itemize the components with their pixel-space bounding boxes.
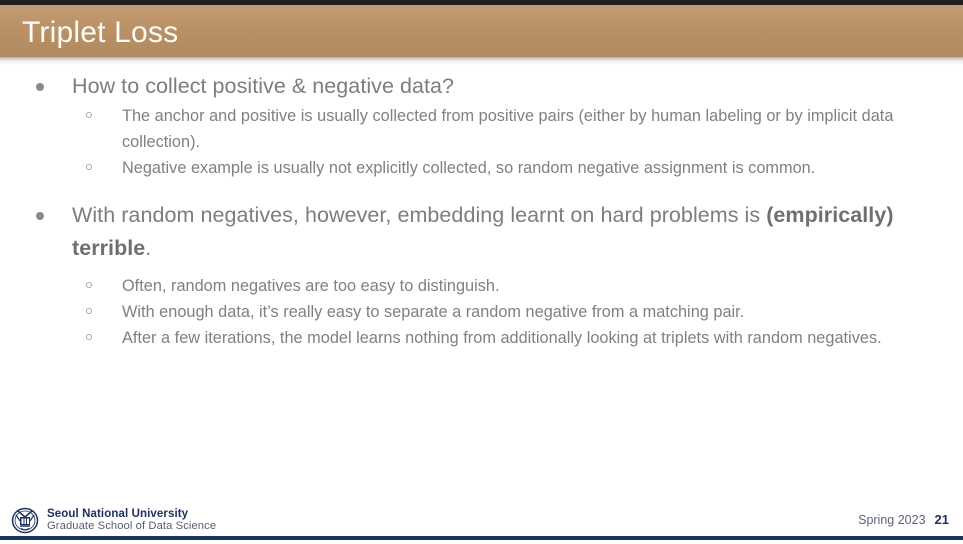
bullet-disc-icon [36,83,44,91]
department-name: Graduate School of Data Science [47,520,216,532]
footer-text-block: Seoul National University Graduate Schoo… [47,508,216,533]
bullet-group-1: How to collect positive & negative data?… [0,70,963,181]
bullet-circle-icon [86,164,92,170]
bullet-circle-icon [86,112,92,118]
slide-title-bar: Triplet Loss [0,5,963,57]
section-spacer [0,181,963,199]
bullet-level1-tail: . [145,236,151,260]
footer-divider [0,536,963,540]
bullet-circle-icon [86,308,92,314]
term-label: Spring 2023 [858,513,925,527]
slide-body: How to collect positive & negative data?… [0,70,963,351]
bullet-level2-label: With enough data, it’s really easy to se… [122,303,744,321]
bullet-spacer [0,265,963,273]
bullet-level2-anchor-positive: The anchor and positive is usually colle… [0,103,963,155]
page-number: 21 [935,512,949,527]
bullet-circle-icon [86,334,92,340]
bullet-level2-negative-example: Negative example is usually not explicit… [0,155,963,181]
footer-meta: Spring 2023 21 [858,512,949,527]
bullet-level2-label: Often, random negatives are too easy to … [122,277,500,295]
bullet-level2-too-easy: Often, random negatives are too easy to … [0,273,963,299]
bullet-level2-enough-data: With enough data, it’s really easy to se… [0,299,963,325]
university-name: Seoul National University [47,508,216,520]
bullet-level1-random-negatives: With random negatives, however, embeddin… [0,199,963,265]
bullet-circle-icon [86,282,92,288]
bullet-level1-label: How to collect positive & negative data? [72,74,454,98]
bullet-level2-label: Negative example is usually not explicit… [122,159,815,177]
page-title: Triplet Loss [22,16,178,50]
slide: Triplet Loss How to collect positive & n… [0,0,963,544]
bullet-level1-how-to-collect: How to collect positive & negative data? [0,70,963,103]
bullet-level2-few-iterations: After a few iterations, the model learns… [0,325,963,351]
bullet-disc-icon [36,212,44,220]
title-bar-shadow [0,57,963,65]
bullet-group-2: With random negatives, however, embeddin… [0,199,963,351]
footer-branding: Seoul National University Graduate Schoo… [10,506,216,534]
bullet-level2-label: The anchor and positive is usually colle… [122,107,893,151]
bullet-level1-lead: With random negatives, however, embeddin… [72,203,766,227]
snu-emblem-icon [10,506,40,534]
bullet-level2-label: After a few iterations, the model learns… [122,329,882,347]
